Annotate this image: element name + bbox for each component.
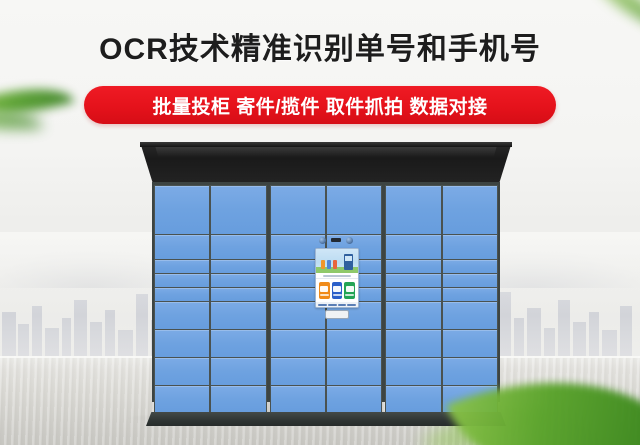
locker-door[interactable] [155, 358, 209, 385]
box-icon [320, 286, 328, 292]
page-title: OCR技术精准识别单号和手机号 [0, 24, 640, 68]
screen-hero-illustration [316, 249, 358, 273]
locker-door[interactable] [386, 386, 440, 413]
locker-door[interactable] [386, 358, 440, 385]
caption-text-placeholder [323, 275, 351, 277]
locker-door[interactable] [271, 186, 325, 234]
locker-door[interactable] [211, 274, 265, 287]
locker-door[interactable] [155, 288, 209, 301]
locker-door[interactable] [155, 274, 209, 287]
locker-door[interactable] [386, 235, 440, 259]
locker-door[interactable] [211, 288, 265, 301]
locker-door[interactable] [386, 274, 440, 287]
locker-door[interactable] [155, 235, 209, 259]
illustration-person [327, 260, 331, 269]
door-column [386, 186, 440, 413]
locker-door[interactable] [155, 386, 209, 413]
locker-door[interactable] [443, 260, 497, 273]
footer-segment [318, 304, 327, 306]
tile-pickup-button[interactable] [332, 282, 343, 299]
locker-door[interactable] [443, 274, 497, 287]
locker-door[interactable] [271, 358, 325, 385]
screen-action-tiles [316, 279, 358, 302]
locker-door[interactable] [386, 288, 440, 301]
locker-door[interactable] [211, 302, 265, 329]
locker-door[interactable] [386, 302, 440, 329]
promo-banner-image: OCR技术精准识别单号和手机号 批量投柜 寄件/揽件 取件抓拍 数据对接 [0, 0, 640, 445]
locker-door[interactable] [211, 386, 265, 413]
camera-icon [319, 237, 326, 244]
locker-door[interactable] [211, 235, 265, 259]
locker-door[interactable] [443, 358, 497, 385]
bay-door-grid [154, 185, 267, 414]
locker-door[interactable] [327, 386, 381, 413]
locker-door[interactable] [386, 186, 440, 234]
scanner-bar-icon [331, 238, 341, 242]
footer-segment [347, 304, 356, 306]
bay-door-grid [385, 185, 498, 414]
locker-door[interactable] [155, 302, 209, 329]
locker-door[interactable] [211, 330, 265, 357]
locker-bay-right [385, 184, 498, 400]
tile-label-placeholder [333, 294, 342, 296]
locker-door[interactable] [211, 186, 265, 234]
kiosk-terminal[interactable] [308, 236, 364, 322]
illustration-person [333, 260, 337, 269]
locker-door[interactable] [211, 260, 265, 273]
locker-door[interactable] [155, 186, 209, 234]
menu-icon [346, 286, 354, 292]
tile-other-button[interactable] [344, 282, 355, 299]
illustration-person [321, 260, 325, 269]
camera-icon [346, 237, 353, 244]
tile-deposit-button[interactable] [319, 282, 330, 299]
kiosk-touchscreen[interactable] [315, 248, 359, 308]
locker-door[interactable] [327, 186, 381, 234]
locker-door[interactable] [211, 358, 265, 385]
locker-door[interactable] [155, 330, 209, 357]
footer-segment [338, 304, 347, 306]
locker-door[interactable] [327, 358, 381, 385]
tile-label-placeholder [320, 294, 329, 296]
feature-banner-label: 批量投柜 寄件/揽件 取件抓拍 数据对接 [152, 92, 487, 119]
feature-banner: 批量投柜 寄件/揽件 取件抓拍 数据对接 [84, 86, 556, 124]
locker-door[interactable] [386, 330, 440, 357]
locker-bay-left [154, 184, 267, 400]
tile-label-placeholder [345, 294, 354, 296]
door-column [155, 186, 209, 413]
illustration-locker [344, 254, 353, 270]
locker-door[interactable] [443, 186, 497, 234]
locker-door[interactable] [443, 288, 497, 301]
door-column [211, 186, 265, 413]
locker-door[interactable] [327, 330, 381, 357]
locker-door[interactable] [443, 330, 497, 357]
locker-door[interactable] [271, 330, 325, 357]
locker-canopy [140, 142, 512, 184]
locker-door[interactable] [155, 260, 209, 273]
locker-door[interactable] [271, 386, 325, 413]
screen-footer-bar [316, 302, 358, 307]
camera-sensor-row [319, 236, 353, 244]
canopy-front-edge [140, 142, 512, 147]
parcel-icon [333, 286, 341, 292]
locker-door[interactable] [443, 235, 497, 259]
card-reader-slot[interactable] [325, 310, 349, 319]
locker-door[interactable] [386, 260, 440, 273]
footer-segment [328, 304, 337, 306]
locker-door[interactable] [443, 302, 497, 329]
door-column [443, 186, 497, 413]
